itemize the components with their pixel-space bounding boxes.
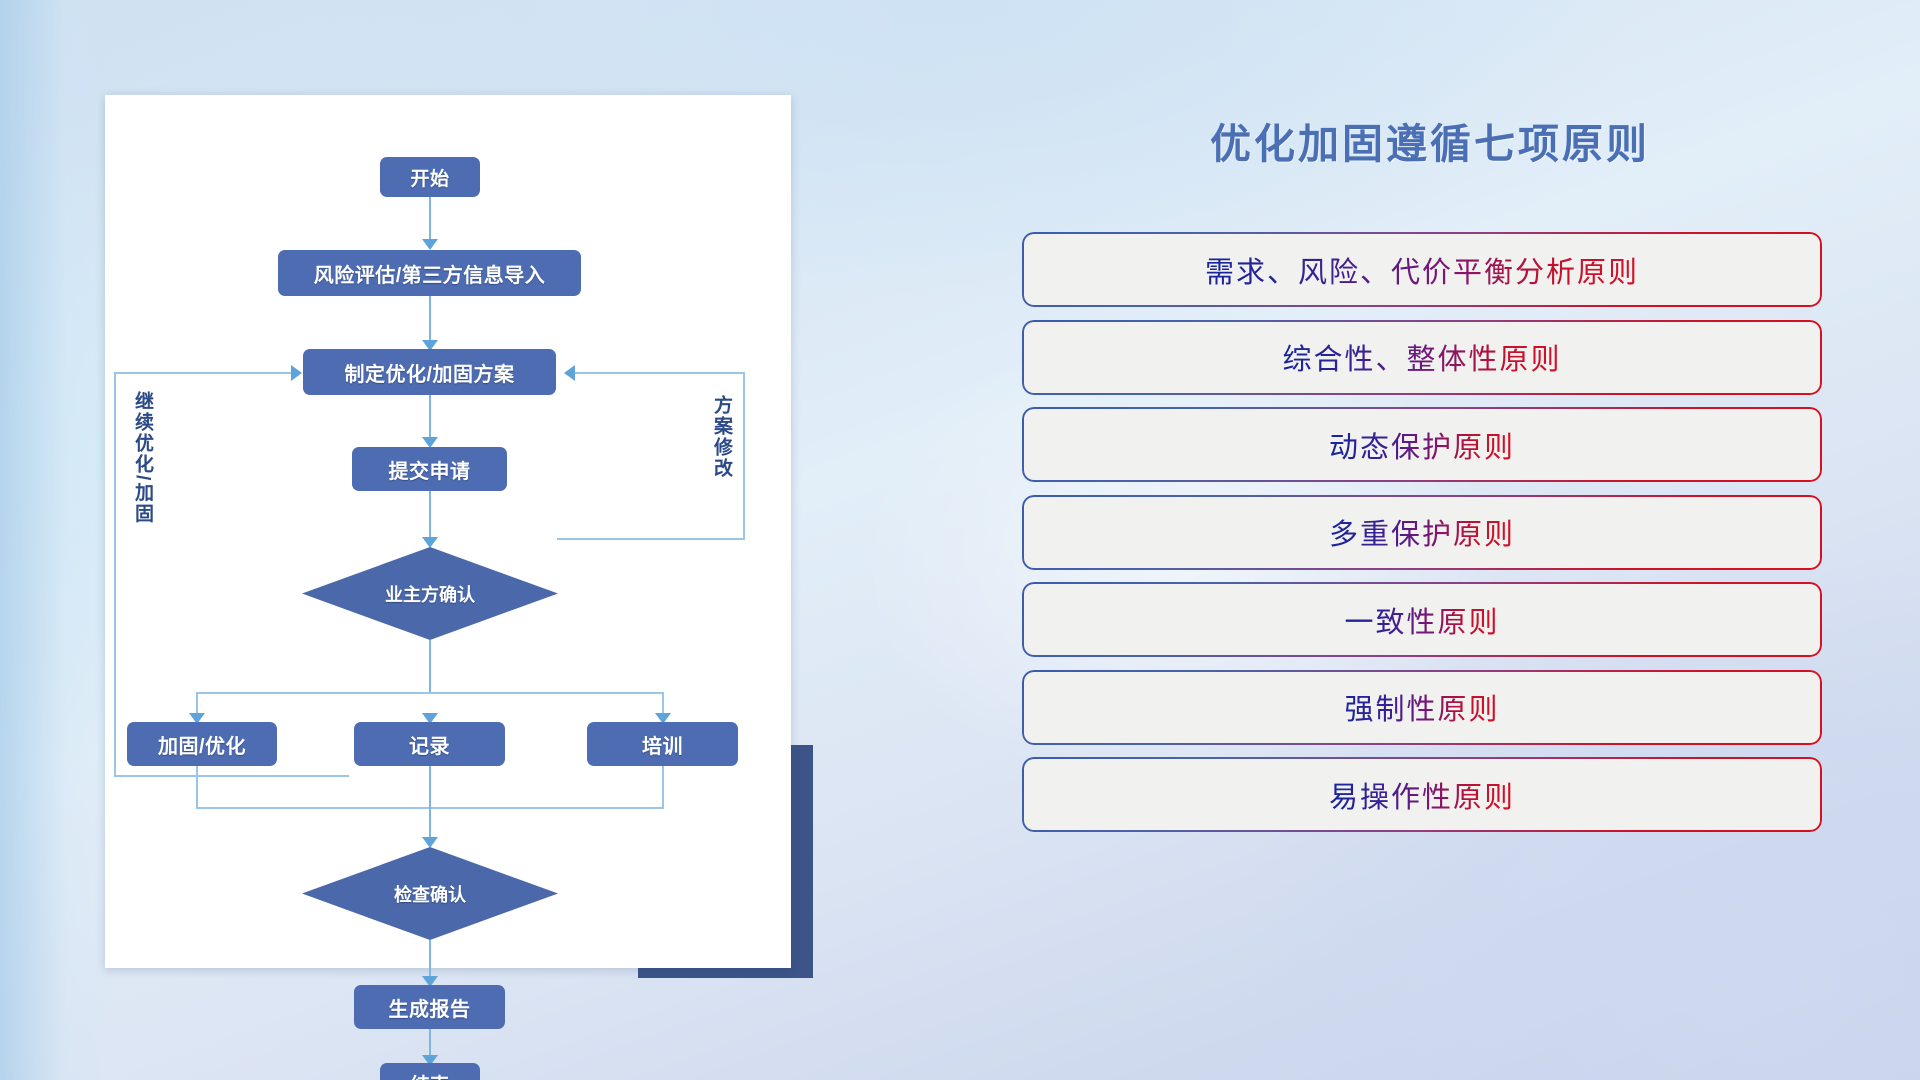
principle-card-label: 动态保护原则 xyxy=(1329,424,1515,466)
principle-card-label: 易操作性原则 xyxy=(1329,774,1515,816)
flow-node-reinforce-optimize[interactable]: 加固/优化 xyxy=(127,722,277,766)
flow-node-reinforce-optimize-label: 加固/优化 xyxy=(158,730,246,759)
principles-list: 需求、风险、代价平衡分析原则 综合性、整体性原则 动态保护原则 多重保护原则 一… xyxy=(1022,232,1822,845)
principle-card-label: 强制性原则 xyxy=(1344,686,1499,728)
edge-label-continue-optimize: 继续优化/加固 xyxy=(132,391,152,524)
edge-plan-to-submit xyxy=(429,395,431,443)
flow-node-end[interactable]: 结束 xyxy=(380,1063,480,1080)
edge-loop-right-top xyxy=(575,372,745,374)
flow-node-generate-report[interactable]: 生成报告 xyxy=(354,985,505,1029)
principle-card[interactable]: 一致性原则 xyxy=(1022,582,1822,657)
edge-record-down xyxy=(429,766,431,844)
flow-node-training[interactable]: 培训 xyxy=(587,722,738,766)
arrowhead-owner xyxy=(422,537,438,548)
edge-fanout-bus xyxy=(196,692,663,694)
edge-merge-right-rise xyxy=(662,766,664,809)
arrowhead-plan-left xyxy=(291,365,302,381)
flow-decision-owner-confirm-label: 业主方确认 xyxy=(385,581,475,607)
flow-node-make-plan[interactable]: 制定优化/加固方案 xyxy=(303,349,556,395)
edge-submit-to-owner xyxy=(429,491,431,543)
edge-loop-left-bottom xyxy=(114,775,349,777)
flow-node-risk-assessment[interactable]: 风险评估/第三方信息导入 xyxy=(278,250,581,296)
edge-loop-right-bottom xyxy=(557,538,745,540)
principle-card[interactable]: 易操作性原则 xyxy=(1022,757,1822,832)
edge-loop-left-vertical xyxy=(114,372,116,777)
flow-decision-owner-confirm[interactable]: 业主方确认 xyxy=(302,547,558,640)
flow-node-end-label: 结束 xyxy=(410,1070,449,1080)
page-title: 优化加固遵循七项原则 xyxy=(1020,110,1840,170)
flow-node-make-plan-label: 制定优化/加固方案 xyxy=(344,358,514,387)
principle-card-label: 一致性原则 xyxy=(1344,599,1499,641)
edge-start-to-assess xyxy=(429,197,431,245)
edge-assess-to-plan xyxy=(429,296,431,346)
edge-owner-down xyxy=(429,640,431,693)
flow-node-submit-application[interactable]: 提交申请 xyxy=(352,447,507,491)
flowchart-panel: 开始 风险评估/第三方信息导入 制定优化/加固方案 继续优化/加固 方案修改 xyxy=(105,95,791,968)
edge-merge-left-rise xyxy=(196,766,198,809)
principle-card-label: 多重保护原则 xyxy=(1329,511,1515,553)
flow-node-start-label: 开始 xyxy=(410,164,449,191)
arrowhead-check xyxy=(422,837,438,848)
flow-node-record[interactable]: 记录 xyxy=(354,722,505,766)
principle-card[interactable]: 需求、风险、代价平衡分析原则 xyxy=(1022,232,1822,307)
slide-canvas: 开始 风险评估/第三方信息导入 制定优化/加固方案 继续优化/加固 方案修改 xyxy=(0,0,1920,1080)
principle-card-label: 综合性、整体性原则 xyxy=(1282,336,1561,378)
principle-card[interactable]: 强制性原则 xyxy=(1022,670,1822,745)
principle-card[interactable]: 多重保护原则 xyxy=(1022,495,1822,570)
arrowhead-plan-right xyxy=(564,365,575,381)
arrowhead-assess xyxy=(422,239,438,250)
edge-loop-right-vertical xyxy=(743,372,745,540)
flow-decision-check-confirm-label: 检查确认 xyxy=(394,881,466,907)
flow-node-start[interactable]: 开始 xyxy=(380,157,480,197)
flow-node-training-label: 培训 xyxy=(642,730,683,759)
edge-loop-left-top xyxy=(114,372,295,374)
flow-node-record-label: 记录 xyxy=(409,730,450,759)
flow-decision-check-confirm[interactable]: 检查确认 xyxy=(302,847,558,940)
flow-node-submit-application-label: 提交申请 xyxy=(389,455,471,484)
principle-card[interactable]: 动态保护原则 xyxy=(1022,407,1822,482)
flow-node-risk-assessment-label: 风险评估/第三方信息导入 xyxy=(314,259,546,288)
flow-node-generate-report-label: 生成报告 xyxy=(389,993,471,1022)
principle-card[interactable]: 综合性、整体性原则 xyxy=(1022,320,1822,395)
edge-label-plan-revision: 方案修改 xyxy=(711,395,731,479)
principle-card-label: 需求、风险、代价平衡分析原则 xyxy=(1205,249,1639,291)
